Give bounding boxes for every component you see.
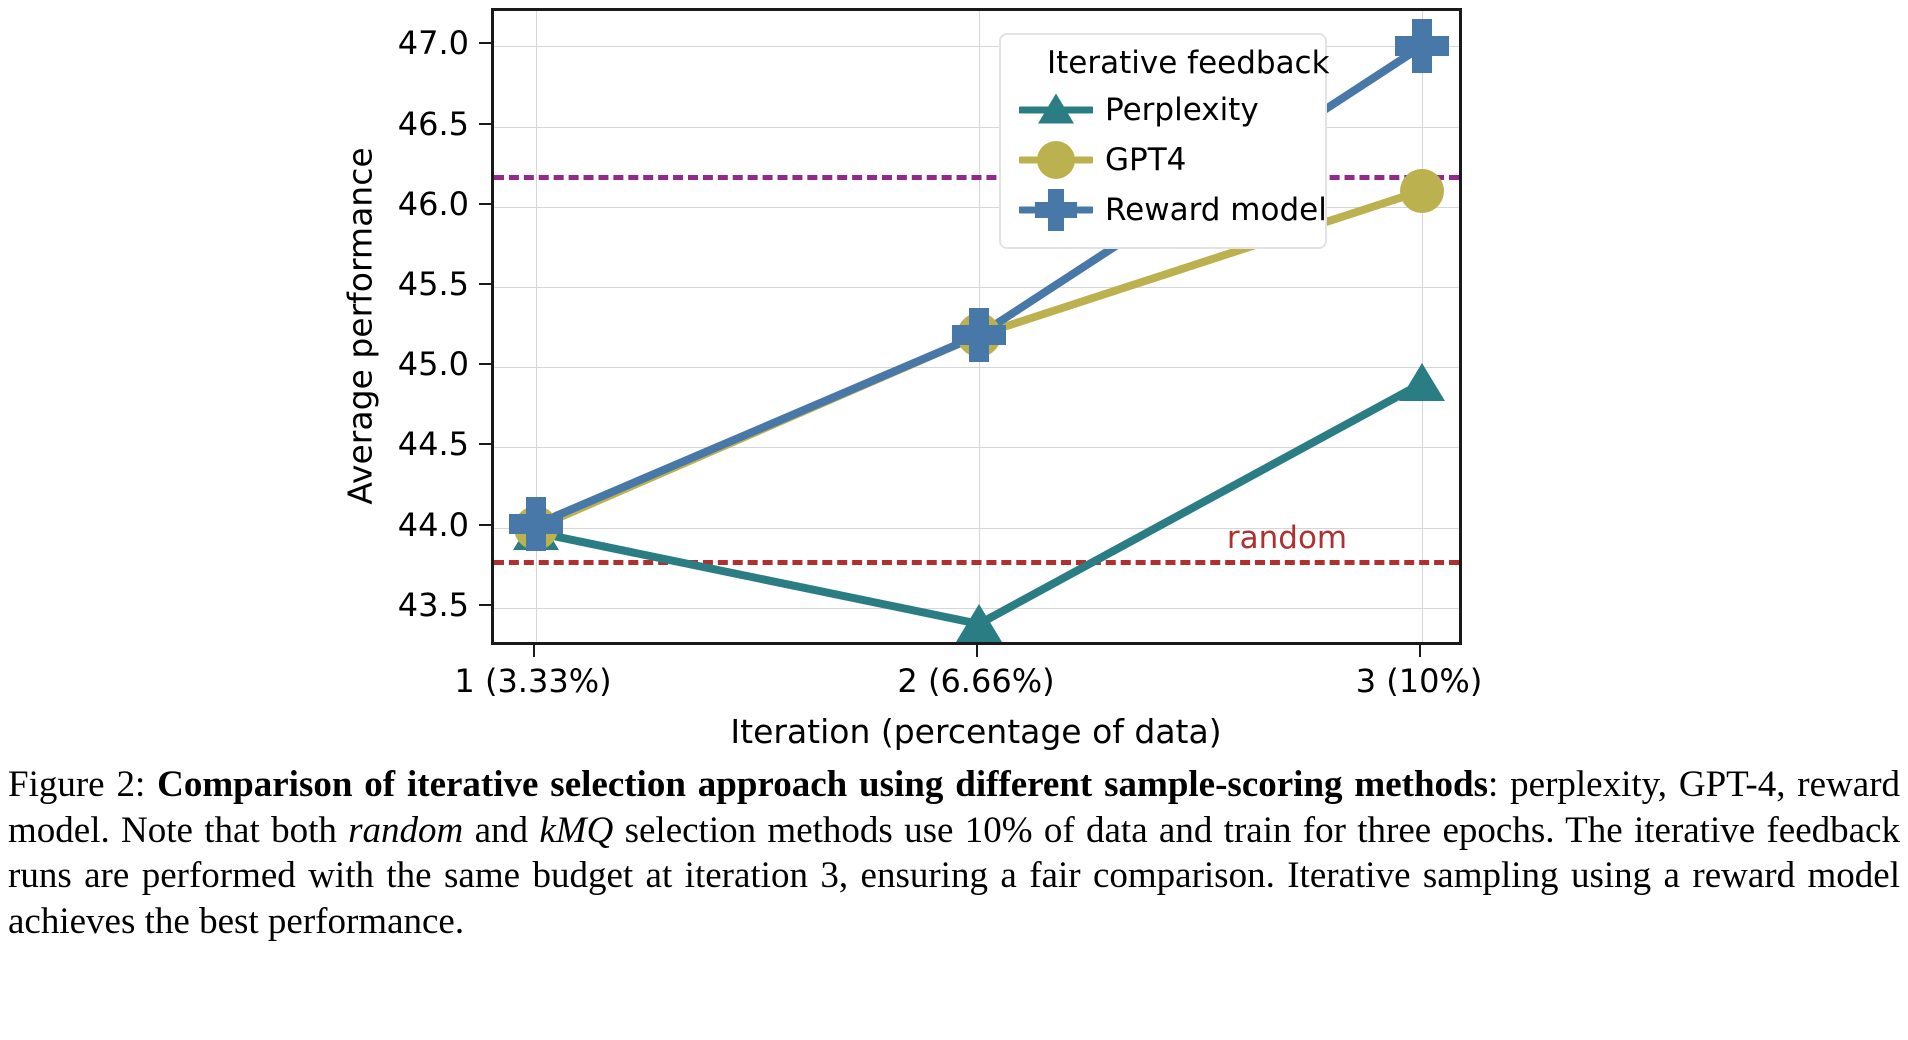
reference-line-label-random: random	[1227, 520, 1347, 556]
y-tick-mark	[479, 363, 491, 365]
x-tick-label: 2 (6.66%)	[897, 662, 1054, 700]
caption-figure-number: Figure 2:	[8, 764, 145, 805]
plot-area: kMQrandom Iterative feedback PerplexityG…	[491, 8, 1462, 645]
y-tick-mark	[479, 42, 491, 44]
legend-key-circle-icon	[1017, 138, 1095, 182]
series-line-perplexity	[536, 383, 1422, 624]
legend-label: Perplexity	[1105, 92, 1259, 128]
caption-italic-kmq: kMQ	[539, 810, 613, 851]
caption-bold-lead: Comparison of iterative selection approa…	[157, 764, 1488, 805]
caption-rest-2: and	[463, 810, 539, 851]
figure-caption: Figure 2: Comparison of iterative select…	[8, 762, 1900, 944]
y-tick-label: 47.0	[398, 24, 469, 62]
legend-key-triangle-icon	[1017, 88, 1095, 132]
legend-key-plus-icon	[1017, 188, 1095, 232]
y-tick-label: 46.5	[398, 105, 469, 143]
y-tick-label: 45.5	[398, 265, 469, 303]
y-tick-label: 46.0	[398, 185, 469, 223]
y-tick-label: 45.0	[398, 345, 469, 383]
x-tick-mark	[533, 645, 535, 657]
y-tick-mark	[479, 203, 491, 205]
caption-italic-random: random	[348, 810, 463, 851]
y-tick-mark	[479, 443, 491, 445]
legend-label: Reward model	[1105, 192, 1327, 228]
x-axis-label: Iteration (percentage of data)	[730, 712, 1221, 751]
chart-legend: Iterative feedback PerplexityGPT4Reward …	[999, 33, 1327, 249]
legend-label: GPT4	[1105, 142, 1186, 178]
x-tick-mark	[976, 645, 978, 657]
x-tick-label: 3 (10%)	[1356, 662, 1483, 700]
legend-entry-perplexity[interactable]: Perplexity	[1017, 85, 1309, 135]
y-tick-mark	[479, 524, 491, 526]
x-tick-label: 1 (3.33%)	[454, 662, 611, 700]
y-tick-label: 44.0	[398, 506, 469, 544]
legend-entries: PerplexityGPT4Reward model	[1017, 85, 1309, 235]
legend-title: Iterative feedback	[1047, 45, 1309, 81]
legend-entry-reward-model[interactable]: Reward model	[1017, 185, 1309, 235]
y-tick-label: 43.5	[398, 586, 469, 624]
y-tick-mark	[479, 604, 491, 606]
legend-entry-gpt4[interactable]: GPT4	[1017, 135, 1309, 185]
y-axis-label: Average performance	[341, 147, 380, 504]
figure-2: Average performance Iteration (percentag…	[0, 0, 1908, 750]
y-tick-mark	[479, 123, 491, 125]
y-tick-label: 44.5	[398, 425, 469, 463]
y-tick-mark	[479, 283, 491, 285]
x-tick-mark	[1419, 645, 1421, 657]
